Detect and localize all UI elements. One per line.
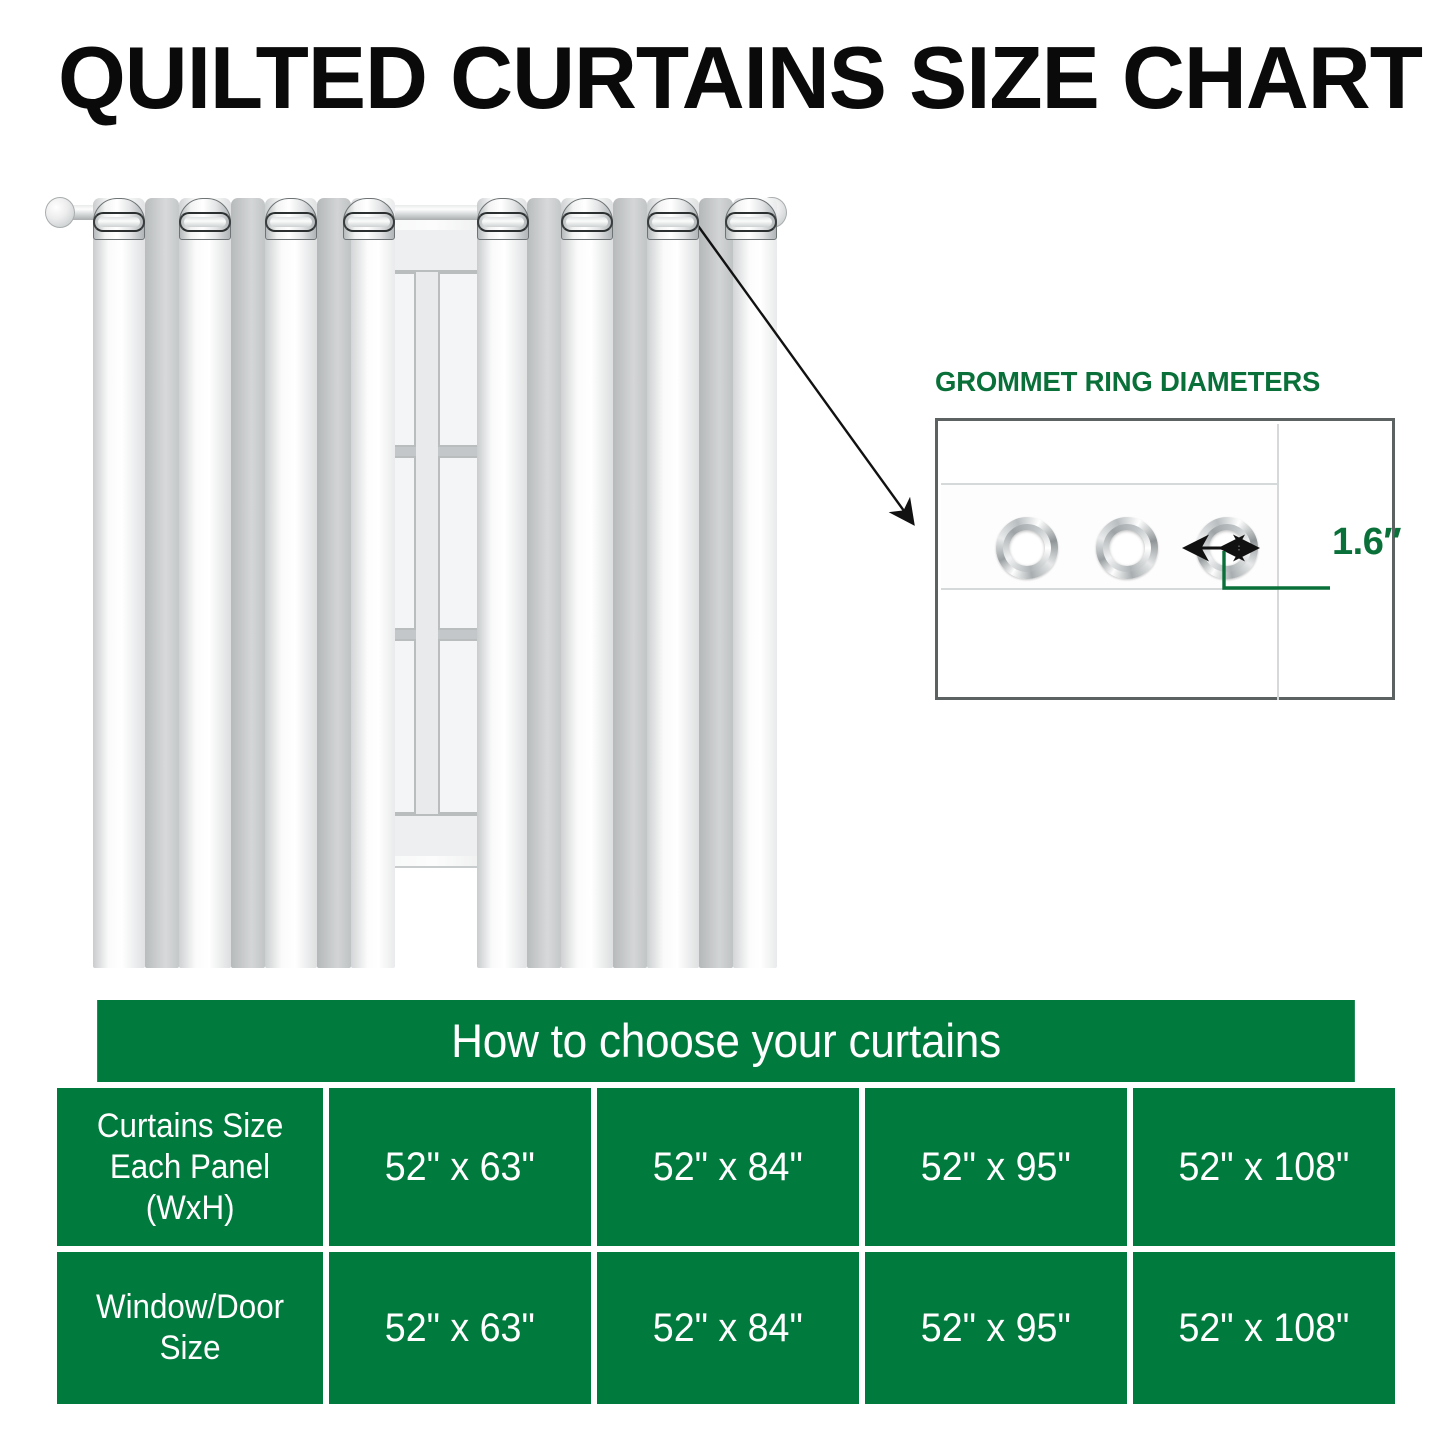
table-cell: 52" x 63" bbox=[329, 1088, 591, 1246]
curtain-fold bbox=[561, 198, 613, 968]
table-cell: 52" x 108" bbox=[1133, 1252, 1395, 1404]
grommet-diagram: GROMMET RING DIAMETERS 1.6″ bbox=[930, 366, 1400, 706]
row-header-window-door-size: Window/Door Size bbox=[57, 1252, 323, 1404]
row-header-line: (WxH) bbox=[146, 1188, 235, 1229]
row-header-line: Each Panel bbox=[110, 1147, 270, 1188]
cell-value: 52" x 95" bbox=[921, 1305, 1071, 1351]
curtain-fold bbox=[699, 198, 733, 968]
row-header-line: Window/Door bbox=[96, 1287, 284, 1328]
curtain-grommet-hole bbox=[265, 212, 317, 232]
curtain-grommet-hole bbox=[647, 212, 699, 232]
window-mullion-vertical bbox=[416, 447, 438, 456]
table-cell: 52" x 108" bbox=[1133, 1088, 1395, 1246]
curtain-fold bbox=[527, 198, 561, 968]
curtain-fold bbox=[231, 198, 265, 968]
curtain-panel-left bbox=[93, 198, 393, 968]
curtain-illustration bbox=[45, 178, 805, 968]
cell-value: 52" x 108" bbox=[1179, 1144, 1350, 1190]
curtain-panel-right bbox=[477, 198, 777, 968]
grommet-detail-box bbox=[935, 418, 1395, 700]
curtain-grommet-hole bbox=[561, 212, 613, 232]
curtain-fold bbox=[647, 198, 699, 968]
rod-finial-left bbox=[45, 197, 75, 228]
curtain-fold bbox=[179, 198, 231, 968]
cell-value: 52" x 63" bbox=[385, 1305, 535, 1351]
grommet-ring-icon bbox=[1196, 517, 1258, 579]
curtain-fold bbox=[145, 198, 179, 968]
table-title: How to choose your curtains bbox=[97, 1000, 1355, 1082]
curtain-fold bbox=[613, 198, 647, 968]
table-cell: 52" x 63" bbox=[329, 1252, 591, 1404]
curtain-fold bbox=[733, 198, 777, 968]
table-cell: 52" x 95" bbox=[865, 1252, 1127, 1404]
table-cell: 52" x 84" bbox=[597, 1252, 859, 1404]
page-title: QUILTED CURTAINS SIZE CHART bbox=[58, 34, 1385, 122]
curtain-grommet-hole bbox=[343, 212, 395, 232]
window-mullion-vertical bbox=[416, 630, 438, 639]
window-mullion-vertical bbox=[416, 639, 438, 814]
table-cell: 52" x 84" bbox=[597, 1088, 859, 1246]
fabric-edge-line bbox=[1277, 424, 1279, 700]
table-row: Window/Door Size 52" x 63" 52" x 84" 52"… bbox=[57, 1252, 1395, 1404]
curtain-fold bbox=[351, 198, 395, 968]
curtain-grommet-hole bbox=[725, 212, 777, 232]
grommet-dimension-label: 1.6″ bbox=[1332, 521, 1401, 564]
curtain-fold bbox=[317, 198, 351, 968]
row-header-curtains-size: Curtains Size Each Panel (WxH) bbox=[57, 1088, 323, 1246]
table-cell: 52" x 95" bbox=[865, 1088, 1127, 1246]
row-header-line: Size bbox=[160, 1328, 221, 1369]
table-row: Curtains Size Each Panel (WxH) 52" x 63"… bbox=[57, 1088, 1395, 1246]
cell-value: 52" x 95" bbox=[921, 1144, 1071, 1190]
cell-value: 52" x 108" bbox=[1179, 1305, 1350, 1351]
size-table: How to choose your curtains Curtains Siz… bbox=[57, 1000, 1395, 1404]
size-chart-page: QUILTED CURTAINS SIZE CHART bbox=[0, 0, 1445, 1445]
cell-value: 52" x 84" bbox=[653, 1305, 803, 1351]
window-mullion-vertical bbox=[416, 456, 438, 631]
curtain-fold bbox=[477, 198, 527, 968]
curtain-fold bbox=[265, 198, 317, 968]
cell-value: 52" x 84" bbox=[653, 1144, 803, 1190]
row-header-line: Curtains Size bbox=[97, 1106, 283, 1147]
grommet-ring-icon bbox=[1096, 517, 1158, 579]
grommet-ring-icon bbox=[996, 517, 1058, 579]
curtain-grommet-hole bbox=[93, 212, 145, 232]
grommet-diagram-heading: GROMMET RING DIAMETERS bbox=[935, 366, 1400, 398]
cell-value: 52" x 63" bbox=[385, 1144, 535, 1190]
curtain-fold bbox=[93, 198, 145, 968]
curtain-grommet-hole bbox=[477, 212, 529, 232]
curtain-grommet-hole bbox=[179, 212, 231, 232]
window-mullion-vertical bbox=[416, 272, 438, 447]
